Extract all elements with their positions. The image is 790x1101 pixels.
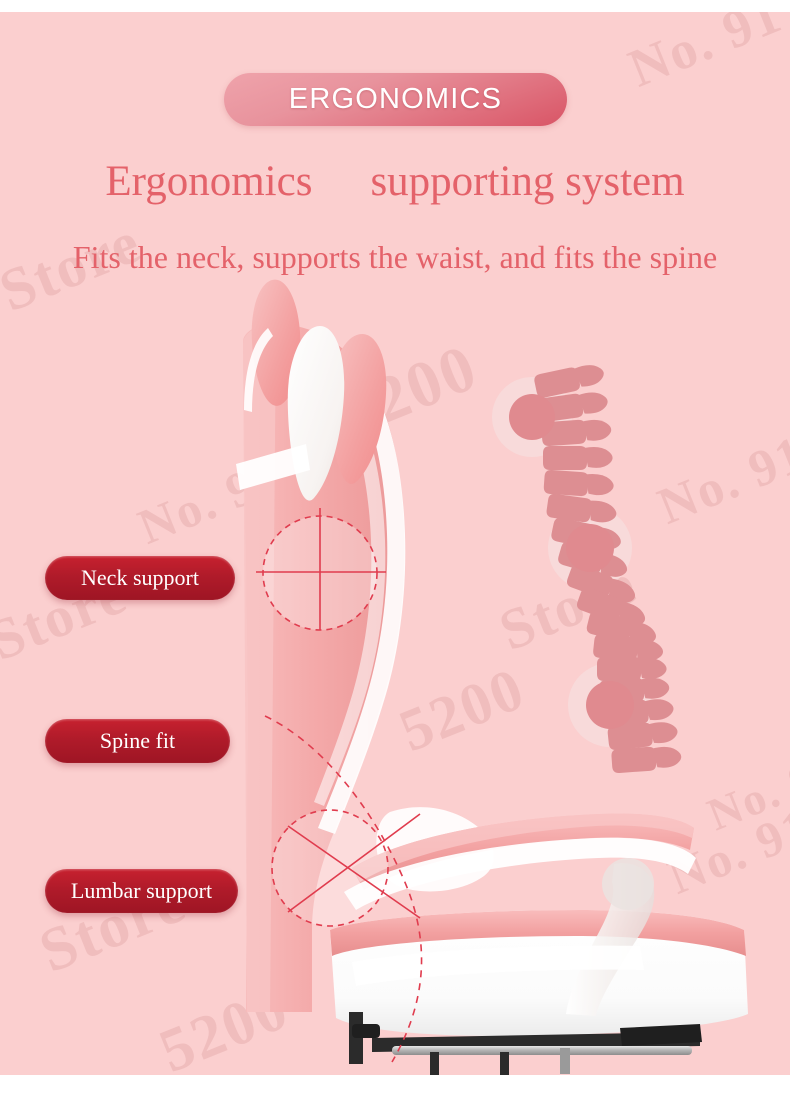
bottom-white-strip (0, 1075, 790, 1101)
ergonomics-badge: ERGONOMICS (224, 73, 567, 126)
page-subtitle: Fits the neck, supports the waist, and f… (0, 235, 790, 279)
label-spine-fit: Spine fit (45, 719, 230, 763)
label-text: Spine fit (100, 728, 175, 754)
page-title: Ergonomicssupporting system (0, 155, 790, 209)
label-text: Neck support (81, 565, 199, 591)
label-text: Lumbar support (71, 878, 212, 904)
label-lumbar-support: Lumbar support (45, 869, 238, 913)
title-left: Ergonomics (105, 158, 312, 205)
title-right: supporting system (370, 158, 684, 205)
label-neck-support: Neck support (45, 556, 235, 600)
poster: No. 91 Store 5200 No. 91 No. 91 Store St… (0, 0, 790, 1101)
badge-label: ERGONOMICS (289, 83, 502, 116)
